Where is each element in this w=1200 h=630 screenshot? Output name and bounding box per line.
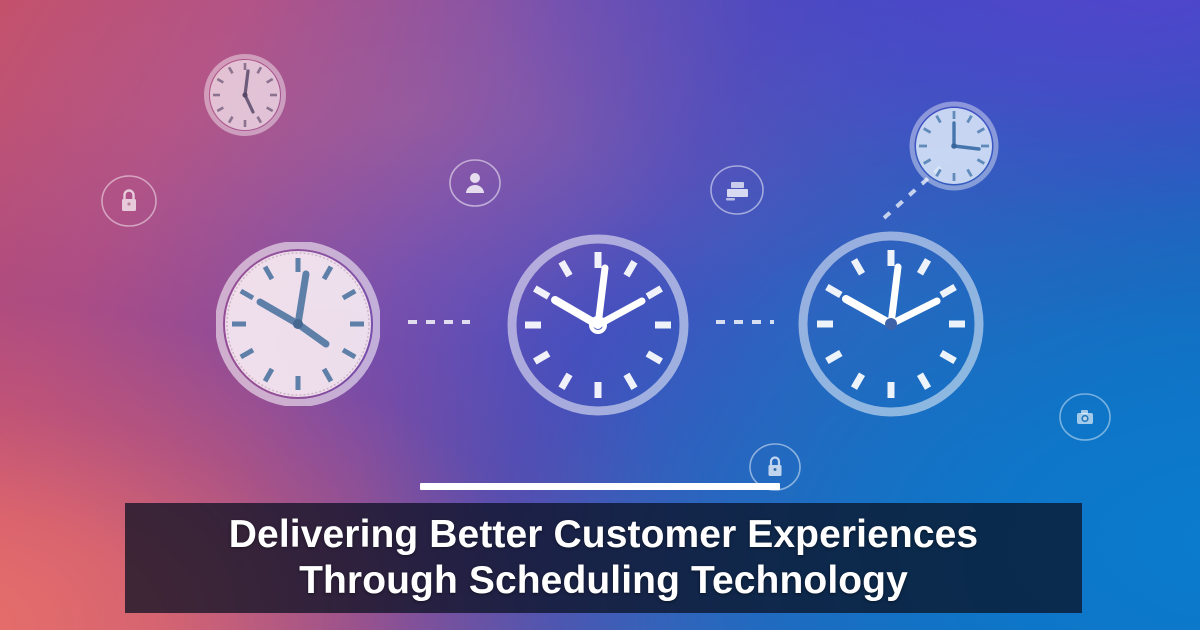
clock-face-left-svg [216, 242, 380, 406]
analog-clock-large-right [796, 229, 986, 419]
analog-clock-small-top-right [909, 101, 999, 191]
clock-face-center-svg [505, 232, 691, 418]
lock-icon [100, 172, 158, 230]
badge-lock-left [100, 172, 158, 230]
camera-icon [1058, 390, 1112, 444]
badge-user-center [448, 156, 502, 210]
analog-clock-large-left [216, 242, 380, 406]
page-title: Delivering Better Customer Experiences T… [217, 512, 990, 604]
title-band: Delivering Better Customer Experiences T… [125, 503, 1082, 613]
badge-calendar [709, 162, 765, 218]
clock-face-small-left-svg [204, 54, 286, 136]
analog-clock-small-top-left [204, 54, 286, 136]
clock-face-right-svg [796, 229, 986, 419]
connector-left-center [408, 320, 470, 324]
calendar-icon [709, 162, 765, 218]
badge-camera-right [1058, 390, 1112, 444]
analog-clock-large-center [505, 232, 691, 418]
promo-banner: Delivering Better Customer Experiences T… [0, 0, 1200, 630]
user-icon [448, 156, 502, 210]
connector-center-right [716, 320, 774, 324]
title-underline [420, 483, 780, 490]
clock-face-small-right-svg [909, 101, 999, 191]
